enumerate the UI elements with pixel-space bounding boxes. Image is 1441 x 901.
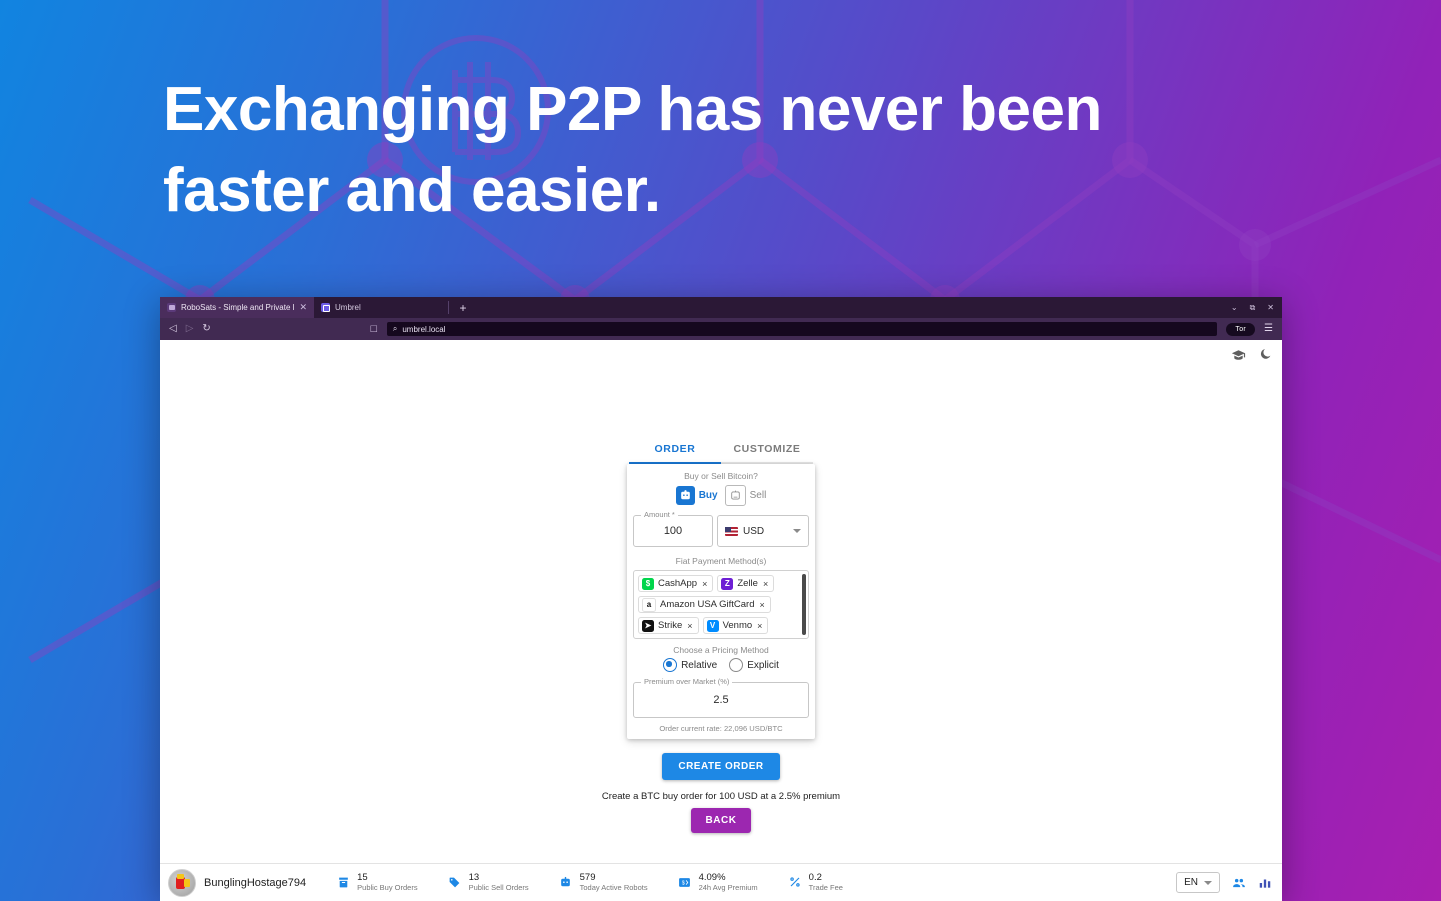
- order-summary-text: Create a BTC buy order for 100 USD at a …: [602, 791, 840, 802]
- tag-icon: [448, 875, 462, 889]
- chip-label: Amazon USA GiftCard: [660, 599, 755, 610]
- tab-order[interactable]: ORDER: [629, 437, 721, 464]
- price-change-icon: $: [678, 875, 692, 889]
- language-select[interactable]: EN: [1176, 872, 1220, 893]
- maximize-icon[interactable]: ⧉: [1250, 303, 1256, 313]
- url-input[interactable]: ⌕ umbrel.local: [387, 322, 1218, 336]
- stat-value: 15: [357, 873, 417, 884]
- amount-row: Amount * 100 USD: [633, 515, 809, 547]
- browser-tab-title: Umbrel: [335, 303, 441, 312]
- status-bar-right: EN: [1176, 872, 1274, 893]
- pricing-method-radios: Relative Explicit: [633, 658, 809, 672]
- avatar[interactable]: [168, 869, 196, 897]
- chevron-down-icon: [793, 529, 801, 533]
- maker-tabs: ORDER CUSTOMIZE: [629, 437, 813, 464]
- stat-label: Trade Fee: [809, 884, 843, 893]
- browser-window: RoboSats - Simple and Private Bit ✕ Umbr…: [160, 297, 1282, 901]
- inbox-icon: [336, 875, 350, 889]
- buy-label: Buy: [699, 490, 718, 501]
- robot-nickname: BunglingHostage794: [204, 877, 306, 889]
- amount-input[interactable]: Amount * 100: [633, 515, 713, 547]
- graduation-cap-icon[interactable]: [1231, 348, 1246, 366]
- close-icon[interactable]: ✕: [299, 303, 307, 312]
- stat-value: 0.2: [809, 873, 843, 884]
- stat-label: Public Buy Orders: [357, 884, 417, 893]
- payment-methods-scrollbar[interactable]: [802, 574, 806, 635]
- payment-chip-amazon-usa-giftcard[interactable]: a Amazon USA GiftCard ×: [638, 596, 771, 613]
- venmo-icon: V: [707, 620, 719, 632]
- percent-icon: [788, 875, 802, 889]
- tab-customize[interactable]: CUSTOMIZE: [721, 437, 813, 464]
- buy-sell-label: Buy or Sell Bitcoin?: [633, 471, 809, 481]
- stat-trade-fee: 0.2 Trade Fee: [788, 873, 843, 893]
- umbrel-favicon-icon: [321, 303, 330, 312]
- stat-public-buy-orders: 15 Public Buy Orders: [336, 873, 417, 893]
- stat-label: Public Sell Orders: [469, 884, 529, 893]
- browser-tab-umbrel[interactable]: Umbrel: [314, 297, 448, 318]
- sell-label: Sell: [750, 490, 767, 501]
- minimize-icon[interactable]: ⌄: [1231, 303, 1238, 312]
- order-maker: ORDER CUSTOMIZE Buy or Sell Bitcoin? Buy: [160, 437, 1282, 833]
- robot-icon: [559, 875, 573, 889]
- currency-select[interactable]: USD: [717, 515, 809, 547]
- robot-sell-icon: [725, 485, 746, 506]
- stat-label: 24h Avg Premium: [699, 884, 758, 893]
- reload-icon[interactable]: ↻: [202, 324, 210, 334]
- remove-icon[interactable]: ×: [763, 579, 768, 589]
- pricing-option-explicit[interactable]: Explicit: [729, 658, 779, 672]
- window-controls: ⌄ ⧉ ✕: [1231, 297, 1282, 318]
- amount-label: Amount *: [641, 510, 678, 519]
- chevron-down-icon: [1204, 881, 1212, 885]
- back-button[interactable]: BACK: [691, 808, 752, 833]
- stat-value: 579: [580, 873, 648, 884]
- us-flag-icon: [725, 527, 738, 536]
- stat-public-sell-orders: 13 Public Sell Orders: [448, 873, 529, 893]
- buy-sell-toggle: Buy Sell: [633, 485, 809, 506]
- premium-label: Premium over Market (%): [641, 677, 732, 686]
- app-top-icons: [1231, 348, 1272, 366]
- hero-line-1: Exchanging P2P has never been: [163, 70, 1213, 151]
- zelle-icon: Z: [721, 578, 733, 590]
- forward-icon[interactable]: ▷: [186, 324, 194, 334]
- cashapp-icon: $: [642, 578, 654, 590]
- chip-label: CashApp: [658, 578, 697, 589]
- window-close-icon[interactable]: ✕: [1267, 303, 1274, 312]
- hero-line-2: faster and easier.: [163, 151, 1213, 232]
- payment-methods-box[interactable]: $ CashApp × Z Zelle × a Amazon USA GiftC…: [633, 570, 809, 639]
- svg-text:$: $: [682, 881, 685, 887]
- robosats-favicon-icon: [167, 303, 176, 312]
- strike-icon: ➤: [642, 620, 654, 632]
- language-value: EN: [1184, 877, 1198, 888]
- url-text: umbrel.local: [402, 325, 445, 334]
- premium-input[interactable]: Premium over Market (%) 2.5: [633, 682, 809, 718]
- stat-value: 13: [469, 873, 529, 884]
- current-rate-note: Order current rate: 22,096 USD/BTC: [633, 724, 809, 733]
- remove-icon[interactable]: ×: [687, 621, 692, 631]
- browser-tab-title: RoboSats - Simple and Private Bit: [181, 303, 294, 312]
- currency-value: USD: [743, 526, 764, 537]
- browser-tabstrip: RoboSats - Simple and Private Bit ✕ Umbr…: [160, 297, 1282, 318]
- amazon-icon: a: [642, 598, 656, 612]
- payment-methods-label: Fiat Payment Method(s): [633, 556, 809, 566]
- stat-value: 4.09%: [699, 873, 758, 884]
- status-bar: BunglingHostage794 15 Public Buy Orders …: [160, 863, 1282, 901]
- payment-chip-strike[interactable]: ➤ Strike ×: [638, 617, 699, 634]
- payment-chip-zelle[interactable]: Z Zelle ×: [717, 575, 774, 592]
- stat-24h-avg-premium: $ 4.09% 24h Avg Premium: [678, 873, 758, 893]
- tor-badge[interactable]: Tor: [1226, 323, 1255, 336]
- search-icon: ⌕: [393, 324, 397, 334]
- premium-value: 2.5: [713, 694, 728, 706]
- app-viewport: ORDER CUSTOMIZE Buy or Sell Bitcoin? Buy: [160, 340, 1282, 901]
- bookmark-icon[interactable]: ☐: [370, 324, 378, 335]
- payment-chip-cashapp[interactable]: $ CashApp ×: [638, 575, 713, 592]
- radio-icon: [663, 658, 677, 672]
- radio-icon: [729, 658, 743, 672]
- tabstrip-spacer: [477, 297, 1231, 318]
- chip-label: Strike: [658, 620, 682, 631]
- stat-today-active-robots: 579 Today Active Robots: [559, 873, 648, 893]
- pricing-option-label: Explicit: [747, 660, 779, 671]
- remove-icon[interactable]: ×: [702, 579, 707, 589]
- payment-chip-venmo[interactable]: V Venmo ×: [703, 617, 769, 634]
- sell-option[interactable]: Sell: [725, 485, 767, 506]
- bar-chart-icon[interactable]: [1258, 876, 1272, 890]
- pricing-method-label: Choose a Pricing Method: [633, 645, 809, 655]
- remove-icon[interactable]: ×: [760, 600, 765, 610]
- back-icon[interactable]: ◁: [169, 324, 177, 334]
- browser-toolbar: ◁ ▷ ↻ ☐ ⌕ umbrel.local Tor ☰: [160, 318, 1282, 340]
- amount-value: 100: [664, 525, 682, 537]
- moon-icon[interactable]: [1259, 348, 1272, 366]
- buy-option[interactable]: Buy: [676, 486, 718, 505]
- menu-icon[interactable]: ☰: [1264, 324, 1273, 334]
- chip-label: Zelle: [737, 578, 758, 589]
- browser-tab-robosats[interactable]: RoboSats - Simple and Private Bit ✕: [160, 297, 314, 318]
- create-order-button[interactable]: CREATE ORDER: [662, 753, 779, 780]
- people-icon[interactable]: [1231, 876, 1247, 890]
- robot-buy-icon: [676, 486, 695, 505]
- hero-headline: Exchanging P2P has never been faster and…: [163, 70, 1213, 231]
- stat-label: Today Active Robots: [580, 884, 648, 893]
- pricing-option-label: Relative: [681, 660, 717, 671]
- new-tab-button[interactable]: +: [449, 297, 477, 318]
- pricing-option-relative[interactable]: Relative: [663, 658, 717, 672]
- order-form-card: Buy or Sell Bitcoin? Buy Sell: [627, 464, 815, 739]
- chip-label: Venmo: [723, 620, 753, 631]
- remove-icon[interactable]: ×: [757, 621, 762, 631]
